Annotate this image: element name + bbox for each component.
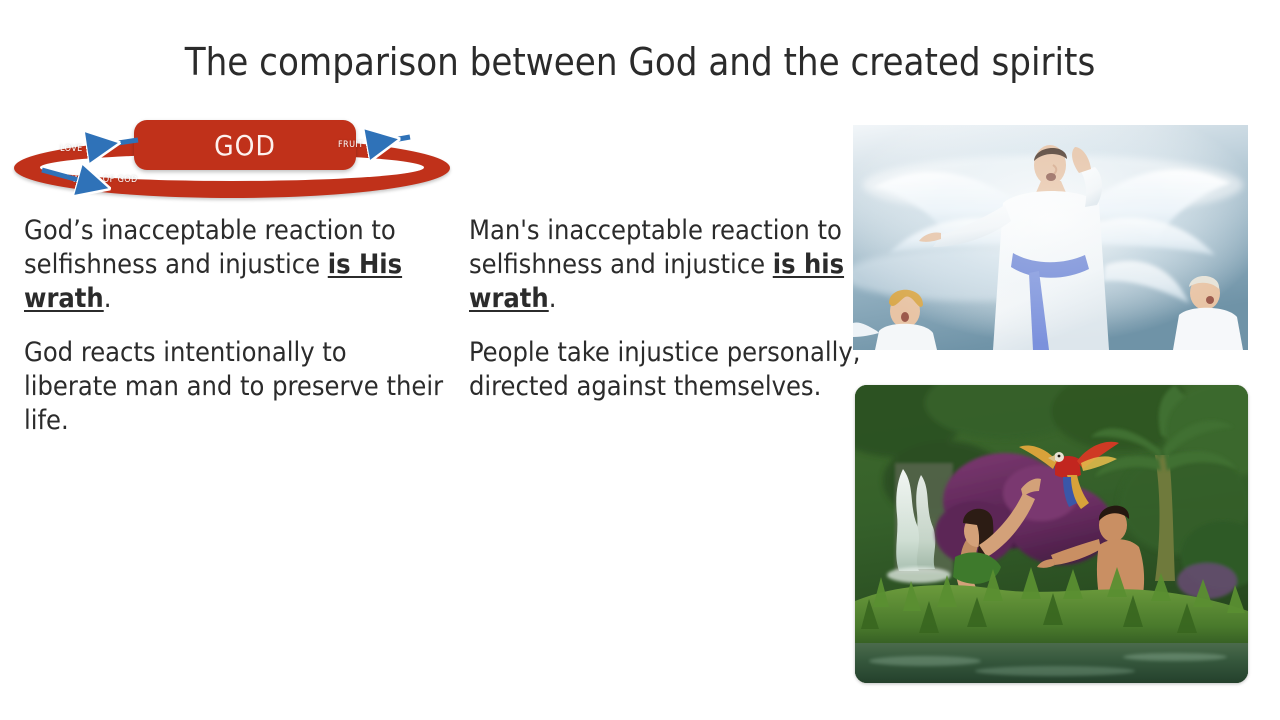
arrow-left-love-icon bbox=[82, 136, 140, 156]
garden-of-eden-photo bbox=[855, 385, 1248, 683]
page-title: The comparison between God and the creat… bbox=[0, 42, 1280, 84]
arrow-left-fruit-icon bbox=[362, 133, 412, 153]
middle-paragraph-2: People take injustice personally, direct… bbox=[469, 336, 869, 404]
cycle-label-love: LOVE bbox=[60, 144, 83, 154]
left-text-column: God’s inacceptable reaction to selfishne… bbox=[24, 214, 444, 452]
middle-paragraph-1: Man's inacceptable reaction to selfishne… bbox=[469, 214, 869, 316]
god-box-label: GOD bbox=[134, 124, 356, 168]
middle-paragraph-1-tail: . bbox=[549, 283, 557, 314]
god-box: GOD bbox=[134, 120, 356, 170]
left-paragraph-1-tail: . bbox=[104, 283, 112, 314]
cycle-label-fruit: FRUIT bbox=[338, 140, 364, 150]
middle-text-column: Man's inacceptable reaction to selfishne… bbox=[469, 214, 869, 418]
left-paragraph-2: God reacts intentionally to liberate man… bbox=[24, 336, 444, 438]
arrow-right-word-of-god-icon bbox=[40, 167, 92, 189]
left-paragraph-1: God’s inacceptable reaction to selfishne… bbox=[24, 214, 444, 316]
angel-photo bbox=[853, 125, 1248, 350]
